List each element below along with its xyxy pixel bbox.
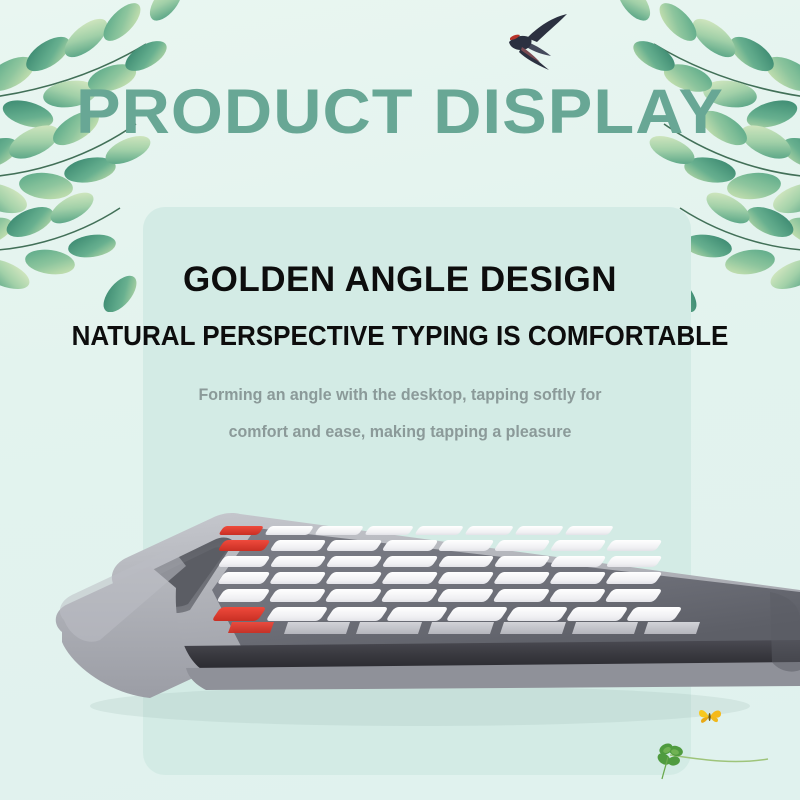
swallow-bird-icon [497,12,575,74]
card-subheadline: NATURAL PERSPECTIVE TYPING IS COMFORTABL… [28,320,772,352]
butterfly-icon [697,706,723,728]
card-body-line-1: Forming an angle with the desktop, tappi… [24,385,776,405]
clover-sprig-decoration [640,735,770,783]
product-display-page: PRODUCT DISPLAY GOLDEN ANGLE DESIGN NATU… [0,0,800,800]
card-headline: GOLDEN ANGLE DESIGN [0,260,800,300]
product-keyboard-image [0,470,800,760]
card-body-line-2: comfort and ease, making tapping a pleas… [24,422,776,442]
page-title: PRODUCT DISPLAY [0,76,800,148]
